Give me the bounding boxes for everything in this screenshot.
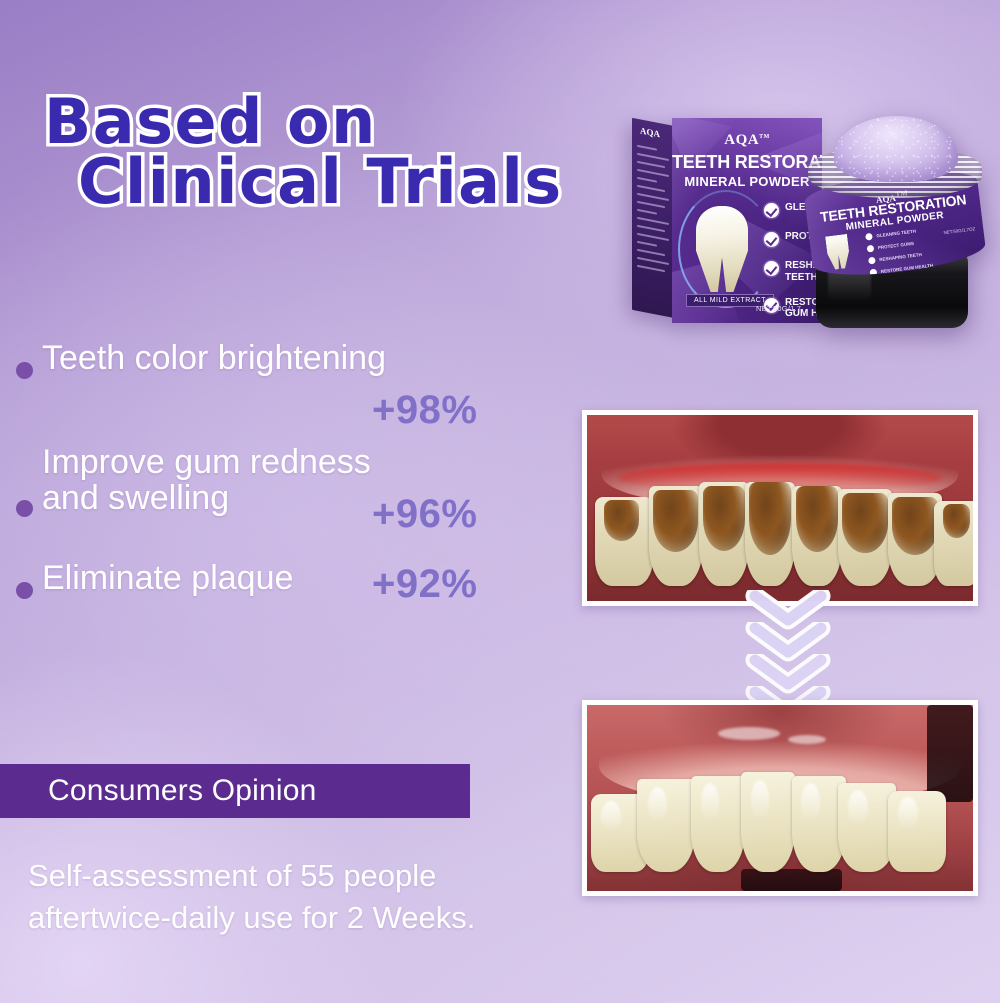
tooth-shape	[595, 497, 653, 586]
tartar-stain	[892, 497, 937, 555]
enamel-gloss	[648, 787, 668, 824]
tooth-shape	[888, 791, 946, 873]
before-photo-content	[587, 415, 973, 601]
bullet-dot-icon	[16, 582, 33, 599]
enamel-gloss	[601, 801, 621, 832]
tartar-stain	[604, 500, 639, 541]
bullet-dot-icon	[16, 362, 33, 379]
benefits-list: Teeth color brightening +98% Improve gum…	[0, 340, 560, 676]
benefit-percent: +92%	[372, 562, 477, 607]
tooth-shape	[691, 776, 745, 873]
bullet-dot-icon	[16, 500, 33, 517]
enamel-gloss	[801, 783, 819, 822]
tartar-stain	[749, 482, 791, 555]
carton-side-brand: AQA	[640, 125, 660, 139]
consumers-opinion-banner: Consumers Opinion	[0, 764, 470, 818]
benefit-row: Eliminate plaque +92%	[0, 564, 560, 676]
carton-brand-tm: TM	[759, 134, 770, 140]
enamel-gloss	[848, 790, 868, 826]
check-icon	[764, 232, 779, 247]
tartar-stain	[842, 493, 887, 553]
saliva-highlight	[788, 735, 827, 744]
tooth-shape	[637, 779, 695, 872]
benefit-label: Improve gum redness and swelling	[42, 444, 371, 516]
enamel-gloss	[751, 780, 769, 820]
check-icon	[867, 245, 875, 253]
transition-arrows	[745, 596, 841, 712]
tooth-shape	[745, 482, 795, 586]
tooth-shape	[649, 486, 703, 586]
headline-line-2: Clinical Trials	[44, 152, 694, 212]
product-jar: AQATM TEETH RESTORATION MINERAL POWDER G…	[800, 106, 990, 336]
mouth-shadow	[927, 705, 973, 802]
jar-feature-label: RESHAPING TEETH	[879, 252, 922, 262]
carton-brand-text: AQA	[724, 132, 759, 148]
benefit-label: Teeth color brightening	[42, 340, 386, 376]
check-icon	[865, 233, 873, 241]
poster-canvas: Based on Clinical Trials Teeth color bri…	[0, 0, 1000, 1003]
tooth-shape	[934, 501, 978, 587]
benefit-row: Teeth color brightening +98%	[0, 340, 560, 452]
consumers-opinion-label: Consumers Opinion	[0, 774, 317, 808]
check-icon	[868, 257, 876, 265]
jar-feature-label: PROTECT GUMS	[878, 241, 915, 250]
carton-side-text-lines	[637, 145, 670, 279]
tartar-stain	[703, 486, 745, 551]
tooth-shape	[699, 482, 749, 586]
carton-side-panel: AQA	[632, 118, 674, 318]
check-icon	[764, 203, 779, 218]
tooth-shape	[838, 489, 892, 586]
product-carton: AQA AQATM TEETH RESTORA	[632, 118, 822, 323]
mouth-shadow	[741, 869, 841, 891]
tartar-stain	[796, 486, 838, 552]
before-photo	[582, 410, 978, 606]
jar-feature-label: GLEANING TEETH	[876, 229, 916, 239]
tartar-stain	[943, 504, 970, 538]
carton-net-weight: NET:50G/1.7	[756, 304, 801, 313]
page-title: Based on Clinical Trials	[44, 92, 694, 211]
tooth-shape	[741, 772, 795, 872]
check-icon	[764, 261, 779, 276]
mineral-powder-content	[834, 116, 958, 182]
benefit-percent: +96%	[372, 492, 477, 537]
after-photo	[582, 700, 978, 896]
jar-tooth-icon	[825, 234, 851, 270]
benefit-label: Eliminate plaque	[42, 560, 293, 596]
benefit-row: Improve gum redness and swelling +96%	[0, 452, 560, 564]
tartar-stain	[653, 490, 698, 552]
tooth-shape	[792, 486, 842, 586]
enamel-gloss	[898, 797, 918, 830]
after-photo-content	[587, 705, 973, 891]
consumers-opinion-caption: Self-assessment of 55 people aftertwice-…	[28, 855, 588, 938]
enamel-gloss	[701, 783, 719, 822]
benefit-percent: +98%	[372, 388, 477, 433]
jar-net-weight: NET:50G/1.7OZ	[943, 226, 975, 235]
product-image: AQA AQATM TEETH RESTORA	[622, 100, 1000, 340]
